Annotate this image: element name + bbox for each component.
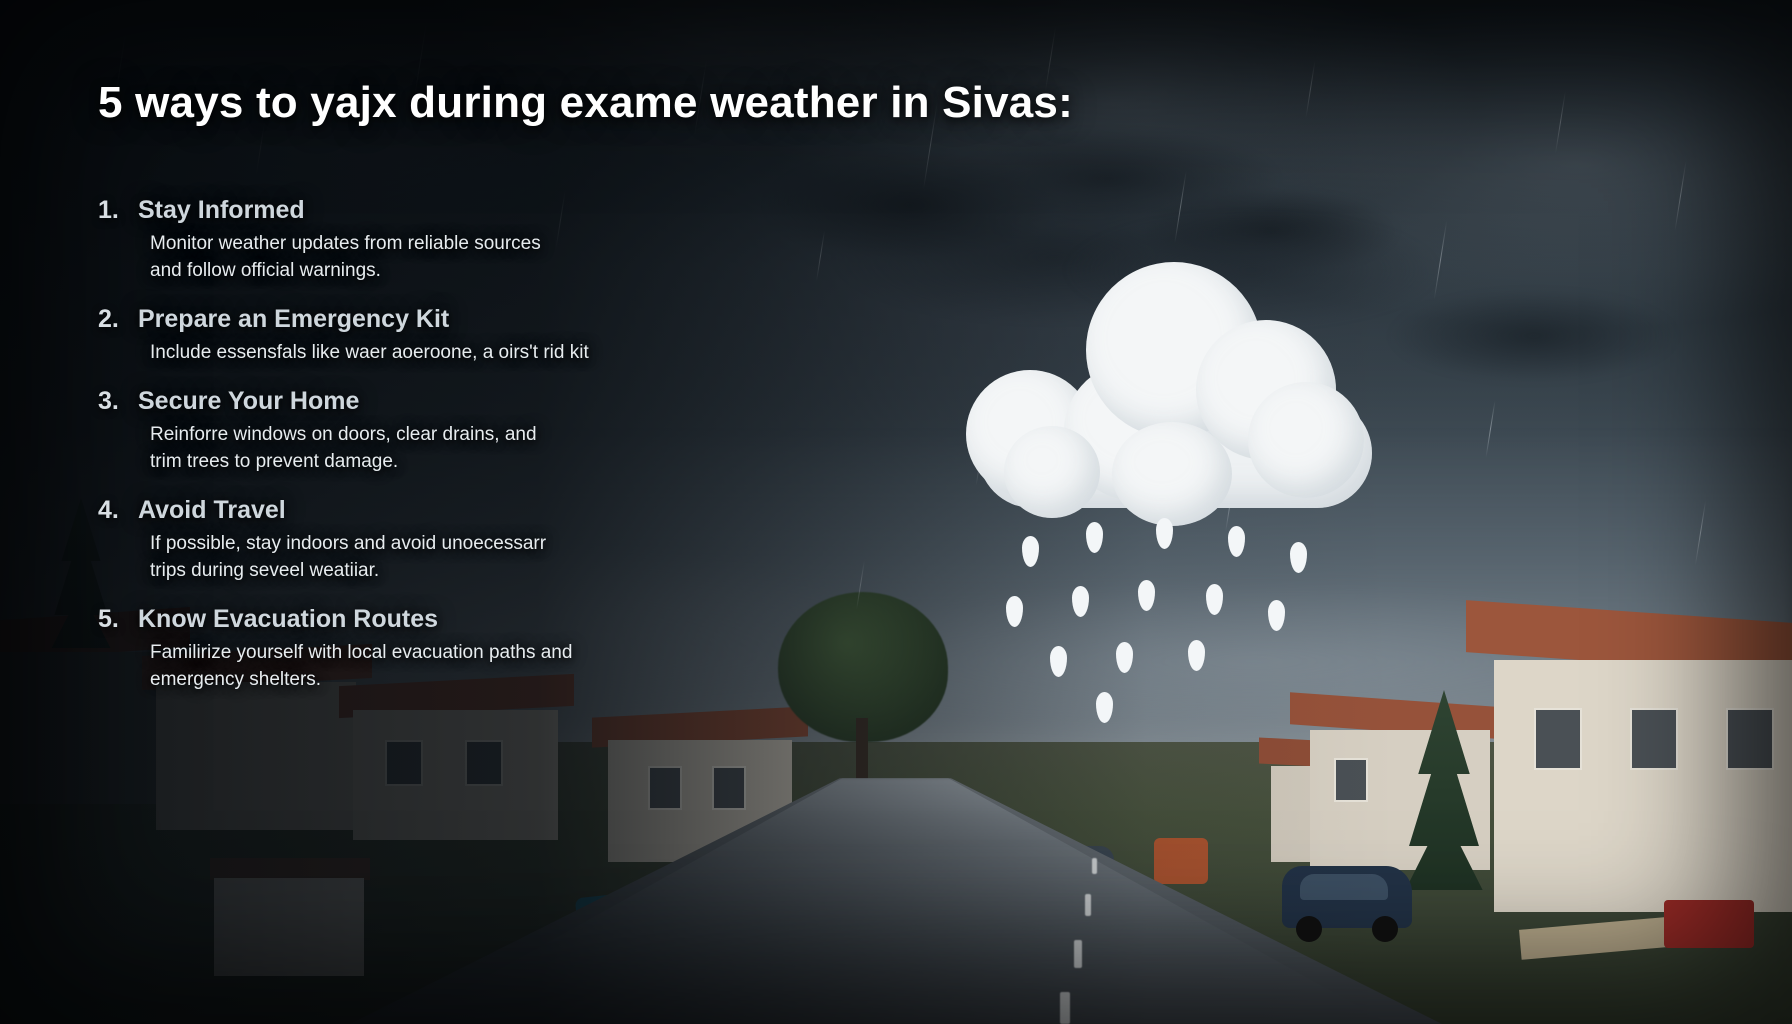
raindrop-3 (1156, 518, 1173, 549)
raindrop-1 (1022, 536, 1039, 567)
raindrop-5 (1290, 542, 1307, 573)
tip-3-description: Reinforre windows on doors, clear drains… (150, 422, 790, 476)
tip-item-2: 2. Prepare an Emergency Kit Include esse… (98, 305, 858, 367)
raindrop-13 (1188, 640, 1205, 671)
page-title: 5 ways to yajx during exame weather in S… (98, 78, 1518, 128)
tips-list: 1. Stay Informed Monitor weather updates… (98, 196, 858, 714)
tip-2-heading: 2. Prepare an Emergency Kit (98, 305, 858, 334)
tip-1-title: Stay Informed (138, 196, 305, 225)
raindrop-9 (1206, 584, 1223, 615)
tip-1-heading: 1. Stay Informed (98, 196, 858, 225)
tip-3-line-2: trim trees to prevent damage. (150, 449, 790, 476)
infographic-canvas: 5 ways to yajx during exame weather in S… (0, 0, 1792, 1024)
tip-5-description: Familirize yourself with local evacuatio… (150, 640, 790, 694)
tip-3-line-1: Reinforre windows on doors, clear drains… (150, 422, 790, 449)
tip-5-heading: 5. Know Evacuation Routes (98, 605, 858, 634)
cloud-puff-bottom-left (1004, 426, 1100, 518)
raindrop-6 (1006, 596, 1023, 627)
raindrop-4 (1228, 526, 1245, 557)
tip-2-description: Include essensfals like waer aoeroone, a… (150, 340, 790, 367)
tip-5-line-2: emergency shelters. (150, 667, 790, 694)
tip-5-line-1: Familirize yourself with local evacuatio… (150, 640, 790, 667)
tip-item-5: 5. Know Evacuation Routes Familirize you… (98, 605, 858, 694)
tip-3-title: Secure Your Home (138, 387, 359, 416)
tip-item-1: 1. Stay Informed Monitor weather updates… (98, 196, 858, 285)
tip-4-heading: 4. Avoid Travel (98, 496, 858, 525)
raindrop-8 (1138, 580, 1155, 611)
raindrop-10 (1268, 600, 1285, 631)
tip-4-title: Avoid Travel (138, 496, 286, 525)
tip-4-number: 4. (98, 496, 126, 525)
tip-1-description: Monitor weather updates from reliable so… (150, 231, 790, 285)
raindrop-12 (1116, 642, 1133, 673)
tip-1-line-2: and follow official warnings. (150, 258, 790, 285)
tip-2-title: Prepare an Emergency Kit (138, 305, 449, 334)
tip-3-heading: 3. Secure Your Home (98, 387, 858, 416)
cloud-puff-bottom-center (1112, 422, 1232, 526)
tip-item-4: 4. Avoid Travel If possible, stay indoor… (98, 496, 858, 585)
tip-1-number: 1. (98, 196, 126, 225)
tip-5-title: Know Evacuation Routes (138, 605, 438, 634)
tip-5-number: 5. (98, 605, 126, 634)
tip-4-line-1: If possible, stay indoors and avoid unoe… (150, 531, 790, 558)
tip-4-description: If possible, stay indoors and avoid unoe… (150, 531, 790, 585)
tip-1-line-1: Monitor weather updates from reliable so… (150, 231, 790, 258)
cloud-puff-right (1248, 382, 1364, 498)
tip-4-line-2: trips during seveel weatiiar. (150, 558, 790, 585)
tip-2-line-1: Include essensfals like waer aoeroone, a… (150, 340, 790, 367)
tip-2-number: 2. (98, 305, 126, 334)
rain-cloud-icon (960, 250, 1390, 680)
tip-3-number: 3. (98, 387, 126, 416)
raindrop-2 (1086, 522, 1103, 553)
raindrop-11 (1050, 646, 1067, 677)
raindrop-7 (1072, 586, 1089, 617)
tip-item-3: 3. Secure Your Home Reinforre windows on… (98, 387, 858, 476)
